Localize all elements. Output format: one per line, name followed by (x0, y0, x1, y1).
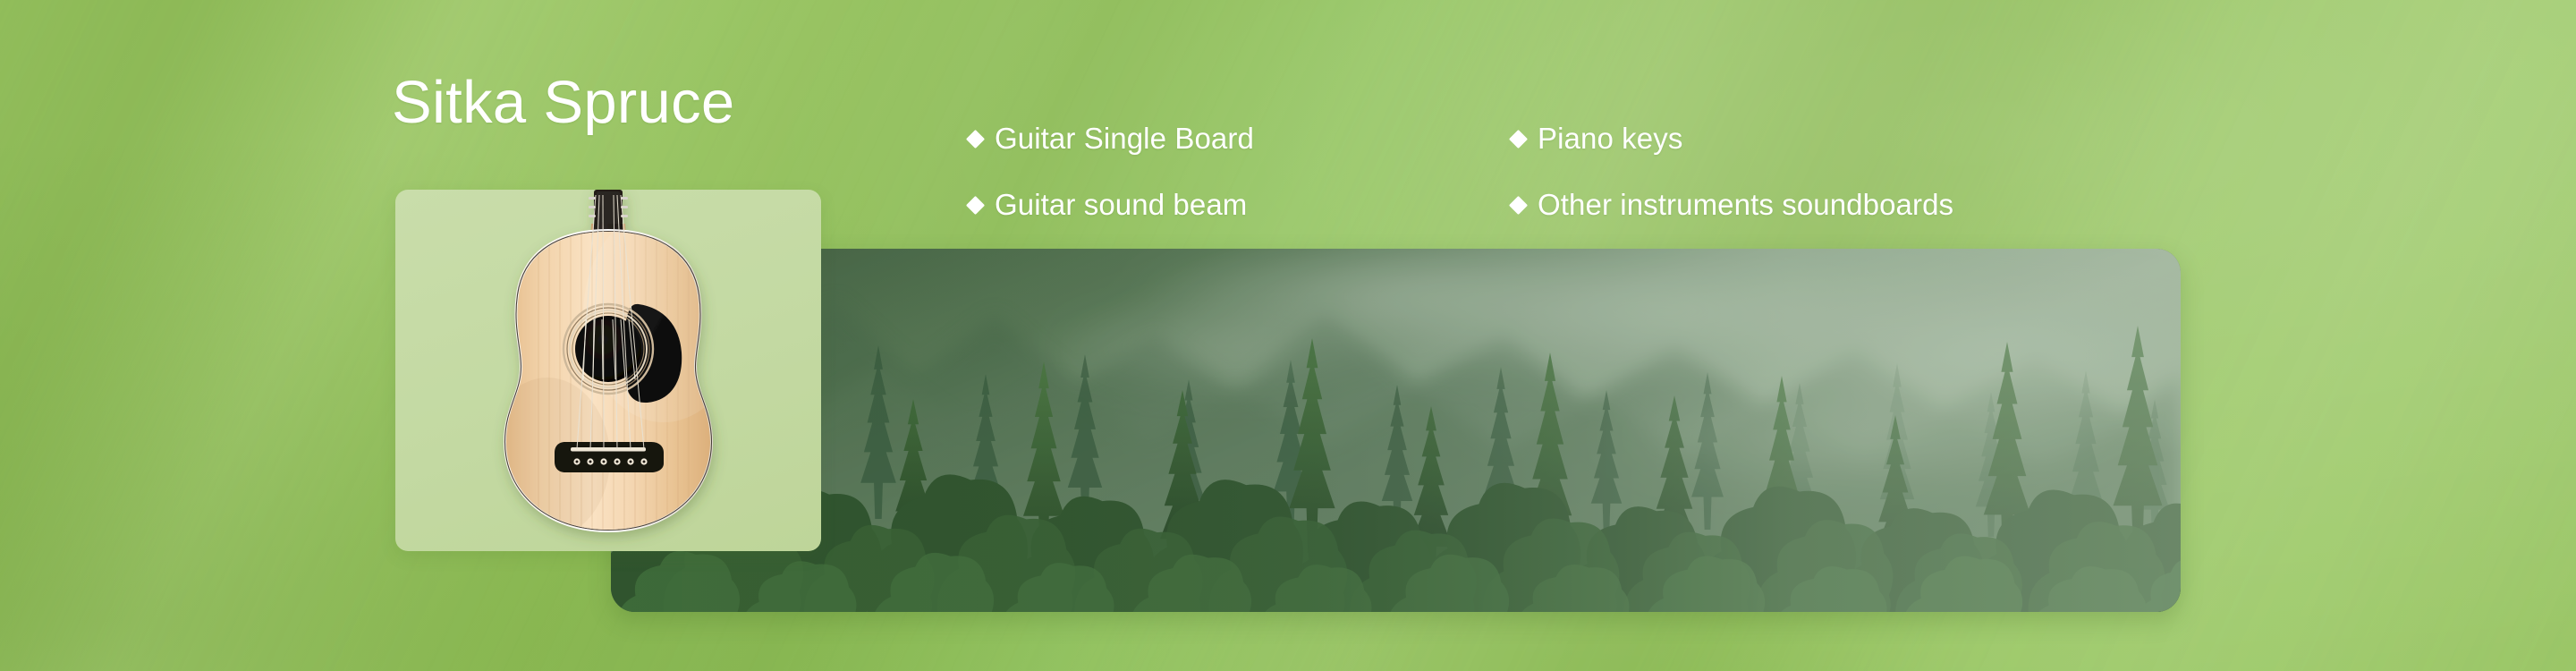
misty-conifer-forest-photo (611, 249, 2181, 612)
forest-image-panel (611, 249, 2181, 612)
diamond-bullet-icon (1509, 195, 1528, 214)
feature-label: Other instruments soundboards (1538, 188, 1953, 222)
acoustic-guitar-image (395, 190, 821, 551)
diamond-bullet-icon (1509, 129, 1528, 148)
feature-label: Piano keys (1538, 122, 1682, 156)
diamond-bullet-icon (966, 129, 985, 148)
feature-item-piano-keys: Piano keys (1512, 122, 1953, 156)
feature-list: Guitar Single Board Piano keys Guitar so… (969, 106, 1953, 238)
feature-label: Guitar sound beam (995, 188, 1247, 222)
page-title: Sitka Spruce (392, 68, 734, 137)
feature-item-other-instruments-soundboards: Other instruments soundboards (1512, 188, 1953, 222)
feature-label: Guitar Single Board (995, 122, 1254, 156)
feature-item-guitar-single-board: Guitar Single Board (969, 122, 1512, 156)
guitar-image-card (395, 190, 821, 551)
feature-item-guitar-sound-beam: Guitar sound beam (969, 188, 1512, 222)
diamond-bullet-icon (966, 195, 985, 214)
